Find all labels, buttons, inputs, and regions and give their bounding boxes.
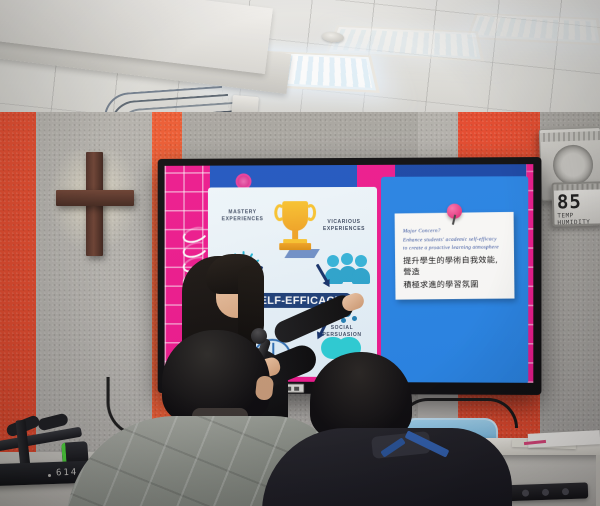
pin-icon (447, 204, 462, 219)
cross-horizontal-beam (56, 190, 134, 206)
clock-sub-label: TEMP HUMIDITY (554, 211, 600, 226)
plate-dot-left (48, 474, 51, 477)
digital-clock-display: 85 TEMP HUMIDITY (551, 181, 600, 226)
note-chinese-line-1: 提升學生的學術自我效能, 營造 (403, 254, 507, 277)
wooden-cross (42, 150, 146, 258)
diagram-label-mastery: MASTERY EXPERIENCES (214, 209, 271, 223)
audience-left-ear (255, 375, 274, 401)
sticky-note: Major Concern? Enhance students' academi… (395, 212, 515, 300)
audience-member-dark-jacket (296, 352, 556, 506)
audience-right-head (310, 352, 412, 438)
diagram-label-vicarious: VICARIOUS EXPERIENCES (315, 219, 373, 233)
clock-digits: 85 (554, 189, 600, 212)
note-line-2: to create a proactive learning atmospher… (403, 243, 507, 253)
equipment-label-text: 614 (56, 468, 79, 479)
note-chinese-line-2: 積極求進的學習氛圍 (403, 278, 507, 290)
presentation-room-photo: 85 TEMP HUMIDITY MASTERY (0, 0, 600, 506)
trophy-icon (273, 201, 317, 259)
desk-leg-right (596, 455, 600, 506)
